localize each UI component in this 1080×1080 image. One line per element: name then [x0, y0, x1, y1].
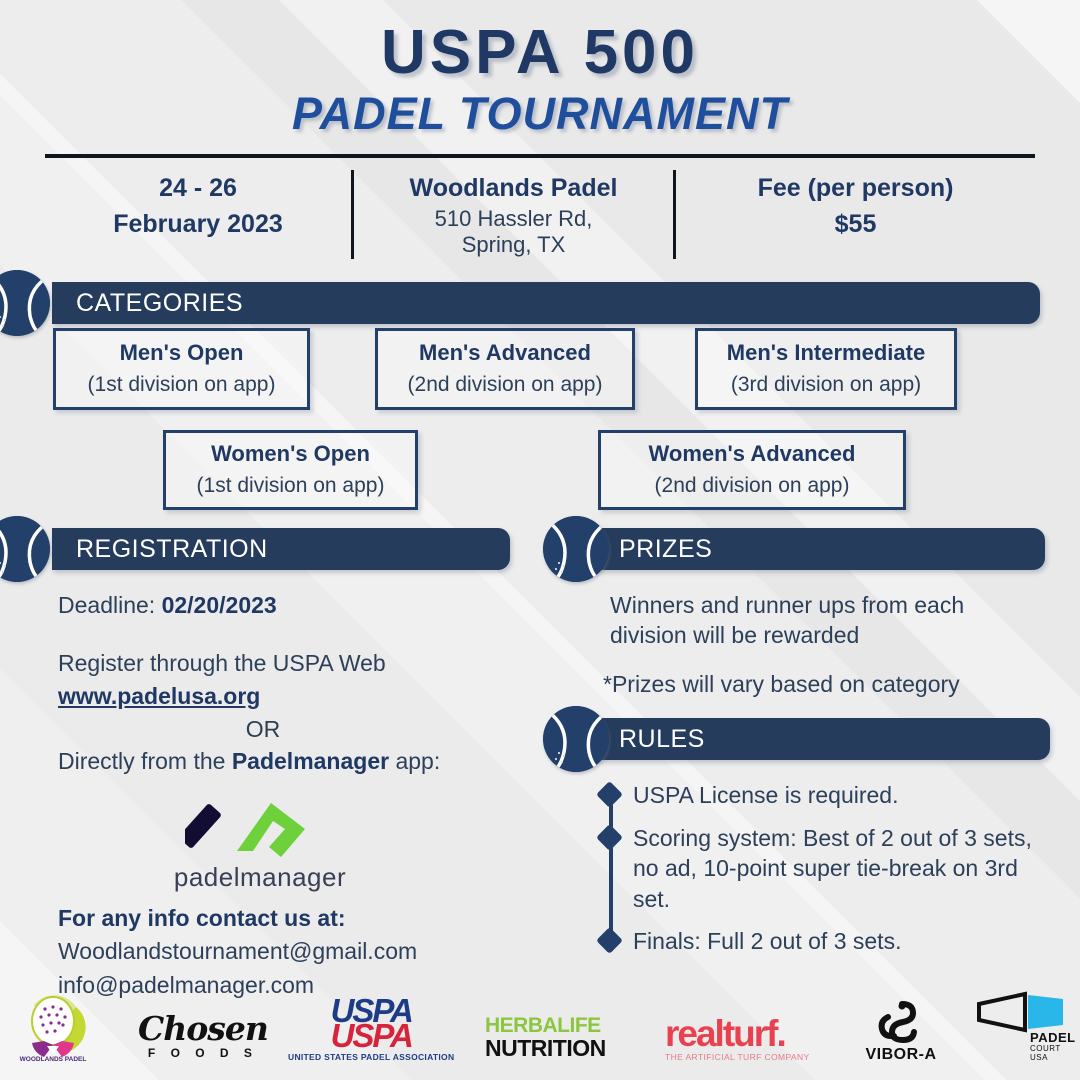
registration-body: Deadline: 02/20/2023 Register through th…: [58, 590, 528, 776]
event-date-col: 24 - 26 February 2023: [45, 170, 351, 259]
app-name: Padelmanager: [232, 748, 389, 774]
category-title: Men's Open: [120, 340, 244, 366]
diamond-bullet-icon: [596, 927, 623, 954]
sponsor-name: PADEL: [1030, 1031, 1080, 1044]
sponsor-name: WOODLANDS PADEL: [20, 1056, 87, 1063]
categories-header-bar: CATEGORIES: [52, 282, 1040, 324]
or-separator: OR: [58, 714, 468, 744]
category-card: Men's Advanced (2nd division on app): [375, 328, 635, 410]
app-instruction: Directly from the Padelmanager app:: [58, 746, 528, 776]
deadline-label: Deadline:: [58, 592, 162, 618]
category-title: Women's Open: [211, 441, 370, 467]
flyer-title-block: USPA 500 PADEL TOURNAMENT: [0, 0, 1080, 140]
venue-name: Woodlands Padel: [362, 170, 665, 206]
category-subtitle: (1st division on app): [197, 472, 385, 499]
category-card: Men's Intermediate (3rd division on app): [695, 328, 957, 410]
list-item: USPA License is required.: [600, 780, 1050, 811]
tennis-ball-icon: [0, 270, 50, 336]
category-title: Men's Advanced: [419, 340, 591, 366]
sponsor-padel-court-usa-logo: PADEL COURT USA: [975, 990, 1080, 1062]
deadline-line: Deadline: 02/20/2023: [58, 590, 528, 620]
event-venue-col: Woodlands Padel 510 Hassler Rd, Spring, …: [351, 170, 673, 259]
padelmanager-wordmark: padelmanager: [120, 862, 400, 893]
contact-email-1: Woodlandstournament@gmail.com: [58, 936, 518, 966]
category-card: Men's Open (1st division on app): [53, 328, 310, 410]
prizes-header-bar: PRIZES: [595, 528, 1045, 570]
diamond-bullet-icon: [596, 781, 623, 808]
category-subtitle: (2nd division on app): [408, 371, 603, 398]
category-title: Men's Intermediate: [727, 340, 925, 366]
sponsor-tagline: THE ARTIFICIAL TURF COMPANY: [665, 1052, 810, 1062]
categories-section: CATEGORIES: [0, 266, 1080, 324]
prizes-line-1: Winners and runner ups from each: [610, 590, 1060, 620]
rules-header-bar: RULES: [595, 718, 1050, 760]
app-instruction-post: app:: [389, 748, 440, 774]
prizes-line-2: division will be rewarded: [610, 620, 1060, 650]
sponsor-tagline: NUTRITION: [485, 1036, 606, 1060]
sponsor-name: realturf.: [665, 1017, 810, 1050]
category-subtitle: (1st division on app): [88, 371, 276, 398]
tennis-ball-icon: [543, 516, 609, 582]
event-fee-col: Fee (per person) $55: [673, 170, 1035, 259]
sponsor-vibora-logo: VIBOR-A: [855, 1001, 947, 1064]
deadline-value: 02/20/2023: [162, 592, 277, 618]
contact-block: For any info contact us at: Woodlandstou…: [58, 905, 518, 1001]
rule-text: Finals: Full 2 out of 3 sets.: [633, 926, 901, 957]
event-date-days: 24 - 26: [53, 170, 343, 206]
fee-label: Fee (per person): [684, 170, 1027, 206]
registration-header-bar: REGISTRATION: [52, 528, 510, 570]
category-card: Women's Open (1st division on app): [163, 430, 418, 510]
sponsor-tagline: F O O D S: [138, 1046, 268, 1060]
rules-header-label: RULES: [619, 725, 705, 754]
rule-text: USPA License is required.: [633, 780, 899, 811]
registration-section: REGISTRATION: [0, 528, 540, 570]
prizes-section: PRIZES: [535, 528, 1080, 570]
categories-header-label: CATEGORIES: [76, 289, 243, 318]
sponsor-tagline: COURT USA: [1030, 1044, 1080, 1062]
category-title: Women's Advanced: [649, 441, 856, 467]
rules-section: RULES: [535, 718, 1080, 760]
tennis-ball-icon: [543, 706, 609, 772]
list-item: Finals: Full 2 out of 3 sets.: [600, 926, 1050, 957]
diamond-bullet-icon: [596, 824, 623, 851]
category-card: Women's Advanced (2nd division on app): [598, 430, 906, 510]
sponsor-name: Chosen: [138, 1009, 268, 1048]
registration-header-label: REGISTRATION: [76, 535, 268, 564]
sponsor-herbalife-logo: HERBALIFE NUTRITION: [485, 1015, 606, 1060]
category-subtitle: (2nd division on app): [655, 472, 850, 499]
rules-list: USPA License is required. Scoring system…: [600, 780, 1050, 969]
venue-address-line2: Spring, TX: [362, 232, 665, 258]
venue-address-line1: 510 Hassler Rd,: [362, 206, 665, 232]
sponsor-name: HERBALIFE: [485, 1015, 606, 1036]
event-info-row: 24 - 26 February 2023 Woodlands Padel 51…: [45, 158, 1035, 259]
register-instruction: Register through the USPA Web: [58, 648, 528, 678]
app-instruction-pre: Directly from the: [58, 748, 232, 774]
rule-text: Scoring system: Best of 2 out of 3 sets,…: [633, 823, 1050, 915]
sponsor-chosen-foods-logo: Chosen F O O D S: [138, 1009, 268, 1060]
sponsor-name: VIBOR-A: [855, 1046, 947, 1064]
contact-heading: For any info contact us at:: [58, 905, 518, 932]
page-subtitle: PADEL TOURNAMENT: [0, 88, 1080, 140]
page-title: USPA 500: [0, 22, 1080, 84]
sponsor-footer: WOODLANDS PADEL Chosen F O O D S USPA US…: [0, 994, 1080, 1080]
sponsor-uspa-logo: USPA USPA UNITED STATES PADEL ASSOCIATIO…: [288, 998, 454, 1062]
sponsor-name-shadow: USPA: [288, 1023, 454, 1049]
prizes-header-label: PRIZES: [619, 535, 712, 564]
sponsor-tagline: UNITED STATES PADEL ASSOCIATION: [288, 1052, 454, 1062]
prizes-body: Winners and runner ups from each divisio…: [610, 590, 1060, 699]
prizes-note: *Prizes will vary based on category: [603, 669, 1060, 699]
event-date-month: February 2023: [53, 206, 343, 242]
sponsor-realturf-logo: realturf. THE ARTIFICIAL TURF COMPANY: [665, 1017, 810, 1062]
tennis-ball-icon: [0, 516, 50, 582]
padelmanager-logo-icon: [185, 795, 335, 867]
registration-website-link[interactable]: www.padelusa.org: [58, 683, 260, 710]
category-subtitle: (3rd division on app): [731, 371, 921, 398]
fee-value: $55: [684, 206, 1027, 242]
list-item: Scoring system: Best of 2 out of 3 sets,…: [600, 823, 1050, 915]
sponsor-woodlands-padel-logo: WOODLANDS PADEL: [14, 991, 92, 1068]
